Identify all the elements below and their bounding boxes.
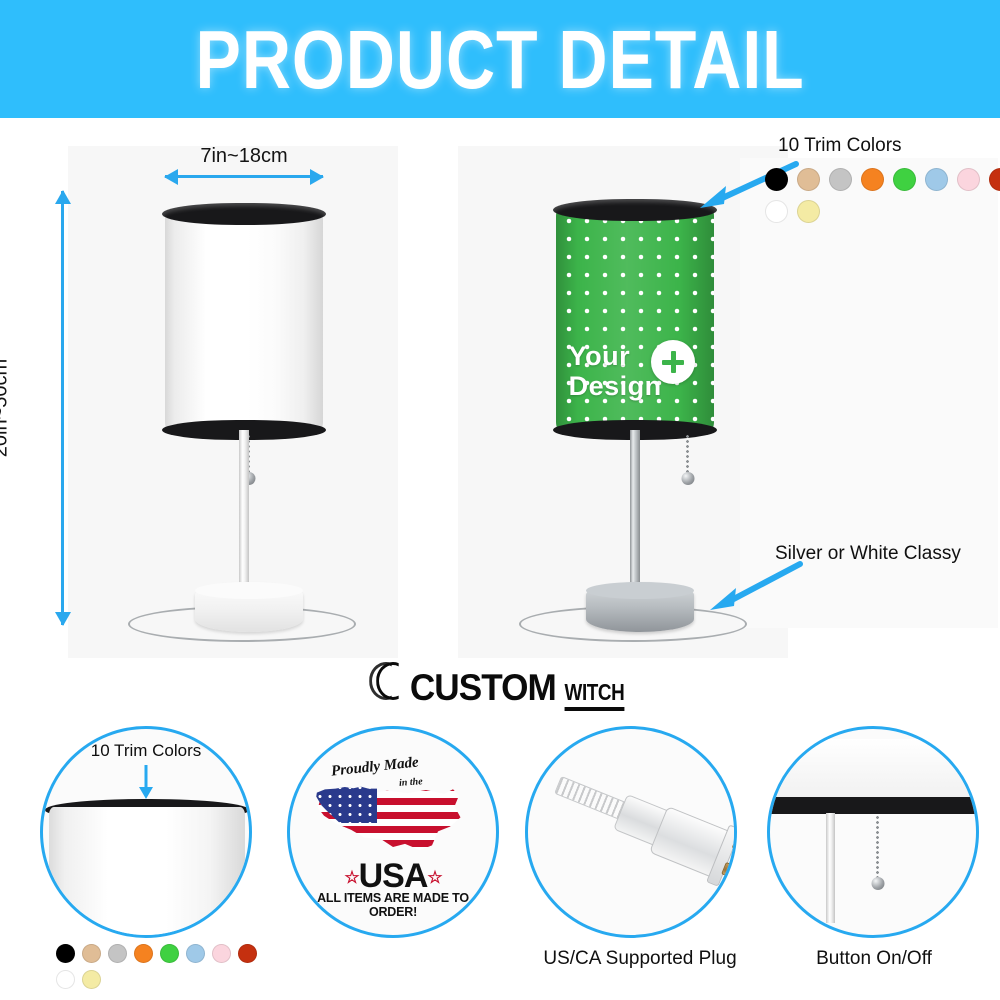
header-banner: PRODUCT DETAIL bbox=[0, 0, 1000, 118]
swatch-pink[interactable] bbox=[957, 168, 980, 191]
height-dimension-label: 20in~50cm bbox=[0, 359, 12, 457]
feature-button-pole bbox=[826, 813, 835, 923]
feature-plug-caption: US/CA Supported Plug bbox=[543, 948, 736, 970]
swatch-black[interactable] bbox=[56, 944, 75, 963]
page-title: PRODUCT DETAIL bbox=[195, 11, 804, 106]
trim-swatch-grid-bottom bbox=[56, 944, 268, 989]
swatch-orange[interactable] bbox=[861, 168, 884, 191]
swatch-orange[interactable] bbox=[134, 944, 153, 963]
swatch-light-blue[interactable] bbox=[186, 944, 205, 963]
swatch-pale-yellow[interactable] bbox=[82, 970, 101, 989]
swatch-white[interactable] bbox=[56, 970, 75, 989]
plus-icon[interactable] bbox=[651, 340, 695, 384]
feature-button-circle bbox=[767, 726, 979, 938]
swatch-gray[interactable] bbox=[108, 944, 127, 963]
usa-inthe-text: in the bbox=[399, 776, 423, 789]
height-dimension-arrow: 20in~50cm bbox=[61, 191, 64, 625]
feature-pull-chain[interactable] bbox=[876, 815, 879, 881]
feature-trim-colors-label: 10 Trim Colors bbox=[91, 741, 202, 761]
feature-trim-colors: 10 Trim Colors bbox=[40, 726, 270, 996]
swatch-tan[interactable] bbox=[797, 168, 820, 191]
width-dimension-arrow: 7in~18cm bbox=[165, 175, 323, 178]
swatch-pink[interactable] bbox=[212, 944, 231, 963]
swatch-light-blue[interactable] bbox=[925, 168, 948, 191]
pull-chain-beads bbox=[876, 815, 879, 881]
usa-badge: Proudly Made in the ☆USA☆ ALL ITEMS ARE … bbox=[307, 757, 479, 907]
lamp-green-base bbox=[586, 582, 694, 632]
feature-button-trim bbox=[767, 797, 979, 814]
feature-button-on-off: Button On/Off bbox=[767, 726, 981, 996]
feature-trim-colors-circle: 10 Trim Colors bbox=[40, 726, 252, 938]
swatch-dark-red[interactable] bbox=[989, 168, 1000, 191]
design-line-2: Design bbox=[569, 373, 662, 400]
lamp-white-base-top bbox=[195, 582, 303, 599]
swatch-white[interactable] bbox=[765, 200, 788, 223]
brand-logo: CUSTOM WITCH bbox=[0, 662, 1000, 711]
feature-plug: US/CA Supported Plug bbox=[525, 726, 755, 996]
swatch-dark-red[interactable] bbox=[238, 944, 257, 963]
feature-plug-circle bbox=[525, 726, 737, 938]
plug-prong-lower bbox=[721, 862, 737, 896]
swatch-gray[interactable] bbox=[829, 168, 852, 191]
product-stage: 7in~18cm 20in~50cm Your Design bbox=[0, 118, 1000, 658]
shade-design-text: Your Design bbox=[569, 343, 662, 400]
usa-canton-icon bbox=[315, 783, 377, 823]
lamp-green-shade: Your Design bbox=[556, 206, 714, 432]
swatch-pale-yellow[interactable] bbox=[797, 200, 820, 223]
width-dimension-label: 7in~18cm bbox=[165, 145, 323, 168]
lamp-white-trim-top bbox=[162, 203, 326, 225]
trim-colors-callout-label: 10 Trim Colors bbox=[778, 135, 902, 157]
feature-button-caption: Button On/Off bbox=[816, 948, 932, 970]
lamp-green-pole bbox=[630, 430, 640, 602]
pull-chain-ball bbox=[681, 472, 694, 485]
feature-made-in-usa: Proudly Made in the ☆USA☆ ALL ITEMS ARE … bbox=[287, 726, 503, 942]
logo-c-icon bbox=[369, 662, 405, 700]
pull-chain-beads bbox=[686, 434, 689, 476]
lamp-white-shade bbox=[165, 210, 323, 432]
logo-text-custom: CUSTOM bbox=[410, 667, 556, 709]
feature-made-in-usa-circle: Proudly Made in the ☆USA☆ ALL ITEMS ARE … bbox=[287, 726, 499, 938]
lamp-green-pull-chain[interactable] bbox=[686, 434, 689, 476]
usa-subtitle: ALL ITEMS ARE MADE TO ORDER! bbox=[307, 891, 479, 919]
base-finish-callout-arrow bbox=[700, 558, 810, 614]
swatch-black[interactable] bbox=[765, 168, 788, 191]
star-right-icon: ☆ bbox=[427, 868, 441, 887]
logo-text-witch: WITCH bbox=[564, 679, 624, 711]
lamp-white-shade-surface bbox=[165, 210, 323, 432]
lamp-green-base-top bbox=[586, 582, 694, 599]
lamp-white-base bbox=[195, 582, 303, 632]
feature-trim-shade bbox=[49, 807, 245, 938]
lamp-white-pole bbox=[239, 430, 249, 602]
trim-swatch-grid-top bbox=[765, 168, 1000, 223]
usa-label: USA bbox=[359, 857, 428, 895]
swatch-tan[interactable] bbox=[82, 944, 101, 963]
star-left-icon: ☆ bbox=[344, 868, 358, 887]
swatch-green[interactable] bbox=[160, 944, 179, 963]
design-line-1: Your bbox=[569, 341, 631, 371]
swatch-green[interactable] bbox=[893, 168, 916, 191]
feature-button-shade bbox=[767, 739, 979, 801]
pull-chain-ball bbox=[871, 877, 884, 890]
power-plug-icon bbox=[529, 754, 737, 935]
